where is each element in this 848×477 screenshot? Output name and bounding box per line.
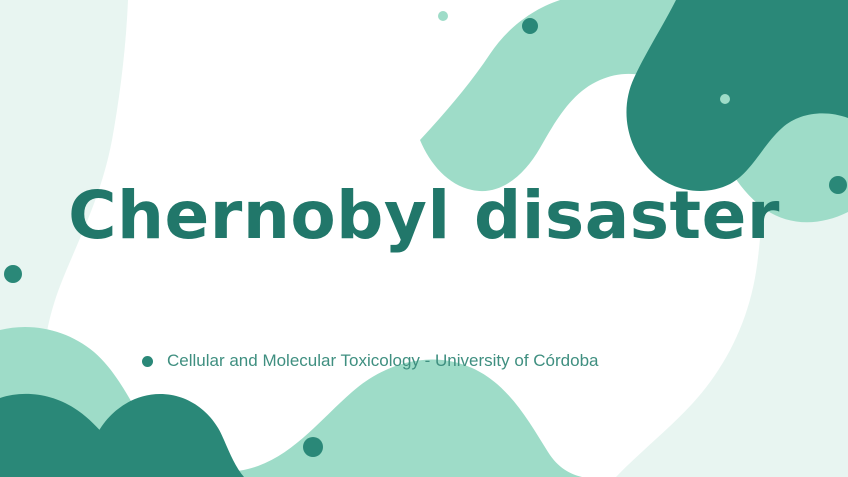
slide-content: Chernobyl disaster Cellular and Molecula… <box>0 0 848 477</box>
presentation-slide: Chernobyl disaster Cellular and Molecula… <box>0 0 848 477</box>
slide-title: Chernobyl disaster <box>0 178 848 254</box>
slide-subtitle: Cellular and Molecular Toxicology - Univ… <box>167 350 599 372</box>
bullet-dot-icon <box>142 356 153 367</box>
slide-subtitle-row: Cellular and Molecular Toxicology - Univ… <box>142 350 599 372</box>
